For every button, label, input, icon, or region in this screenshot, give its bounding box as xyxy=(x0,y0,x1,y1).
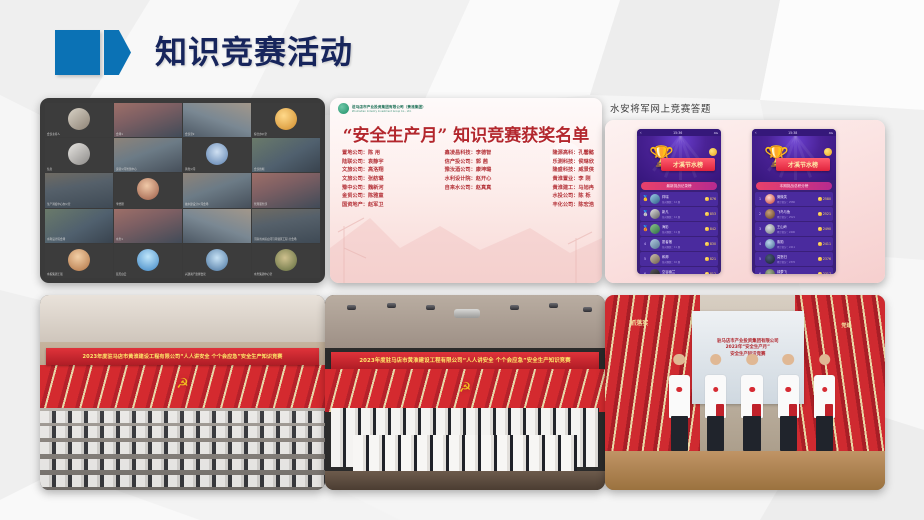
video-tile: 生产调度中心办公室 xyxy=(45,173,113,207)
wall-banner-left: 抓落实 xyxy=(630,318,648,327)
party-emblem-icon: ☭ xyxy=(459,381,472,395)
player-sub: 答对题数：11 题 xyxy=(662,230,703,234)
wall-banner-right: 党建 xyxy=(841,322,851,329)
status-signal: 4G xyxy=(829,131,833,135)
person xyxy=(667,354,692,452)
avatar xyxy=(650,239,660,249)
award-entry: 信产投公司：郭 茜 xyxy=(445,159,492,166)
quiz-banner-title: 才溪节水榜 xyxy=(788,160,818,169)
leaderboard-row[interactable]: 6 空谷幽兰 答对题数：10 题 812 xyxy=(640,267,718,274)
award-entry: 豫中公司：魏新河 xyxy=(342,185,384,192)
quiz-tab-bar[interactable]: 最新挑战记录榜 xyxy=(641,182,717,190)
video-tile: 李经理 xyxy=(114,173,182,207)
rank-number: 4 xyxy=(757,242,763,246)
player-score: 2521 xyxy=(823,212,831,216)
player-score: 2580 xyxy=(823,197,831,201)
stage-floor xyxy=(605,451,885,490)
player-sub: 答对题数：12 题 xyxy=(662,200,703,204)
rank-number: 1 xyxy=(757,197,763,201)
player-name: 新凡 xyxy=(662,209,703,214)
video-tile-label: 会议主持人 xyxy=(47,134,60,137)
online-quiz-screenshots: ‹ 15:36 4G 🏆 才溪节水榜 最新挑战记录榜 xyxy=(605,120,885,283)
stage-front xyxy=(325,471,605,491)
photo-competition-audience: ☭ 2023年度驻马店市黄淮建设工程有限公司“人人讲安全 个个会应急”安全生产知… xyxy=(40,295,325,490)
phone-status-bar: ‹ 15:36 4G xyxy=(637,129,721,136)
video-conference-grid: 会议主持人 会场1 会议室2 综合办公室 信息 运营 xyxy=(45,103,320,278)
score-coin-icon xyxy=(705,272,709,274)
video-conference-screenshot: 会议主持人 会场1 会议室2 综合办公室 信息 运营 xyxy=(40,98,325,283)
status-time: 15:38 xyxy=(788,131,797,135)
avatar xyxy=(765,269,775,274)
video-tile: 运营公司智慧中心 xyxy=(114,138,182,172)
video-tile-label: 融水建设分公司会场 xyxy=(185,204,208,207)
event-banner-text: 2023年度驻马店市黄淮建设工程有限公司“人人讲安全 个个会应急”安全生产知识竞… xyxy=(83,353,283,360)
event-banner-text: 2023年度驻马店市黄淮建设工程有限公司“人人讲安全 个个会应急”安全生产知识竞… xyxy=(359,356,570,364)
chevron-left-icon[interactable]: ‹ xyxy=(640,130,642,135)
slide-title-block: 知识竞赛活动 xyxy=(55,30,353,75)
award-entry: 黄淮建工：马旭冉 xyxy=(552,185,594,192)
rank-number: 5 xyxy=(757,257,763,261)
video-tile-label: 会场1 xyxy=(116,134,123,137)
rank-number: 5 xyxy=(642,257,648,261)
award-entry: 国资地产：赵军卫 xyxy=(342,202,384,209)
player-sub: 累计积分：2376 xyxy=(777,260,816,264)
person xyxy=(812,354,837,452)
score-coin-icon xyxy=(705,197,709,201)
video-tile-label: 水务集团中心室 xyxy=(254,274,272,277)
person xyxy=(739,354,764,452)
player-name: 空谷幽兰 xyxy=(662,269,703,274)
video-tile-label: 河南省水投白河引丹灌区工程-分会场 xyxy=(254,239,296,242)
score-coin-icon xyxy=(818,212,822,216)
avatar xyxy=(650,194,660,204)
player-sub: 累计积分：2521 xyxy=(777,215,816,219)
event-banner: 2023年度驻马店市黄淮建设工程有限公司“人人讲安全 个个会应急”安全生产知识竞… xyxy=(46,348,320,366)
player-score: 2411 xyxy=(823,242,831,246)
player-score: 842 xyxy=(710,227,716,231)
player-score: 812 xyxy=(710,272,716,274)
logo-text-en: Zhumadian Industry Investment Group Co.,… xyxy=(352,110,426,113)
phone-mockup-2: ‹ 15:38 4G 🏆 才溪节水榜 本期挑战总积分榜 xyxy=(752,129,836,274)
photo-content: 2023年度驻马店市黄淮建设工程有限公司“人人讲安全 个个会应急”安全生产知识竞… xyxy=(325,295,605,490)
avatar xyxy=(650,209,660,219)
video-tile-label: 水投集团王强 xyxy=(47,274,63,277)
player-name: 海影 xyxy=(662,224,703,229)
video-tile-label: 综合办公室 xyxy=(254,134,267,137)
avatar xyxy=(650,269,660,274)
flag-backdrop-right xyxy=(795,295,885,463)
award-entry: 丰化公司：陈宏浩 xyxy=(552,202,594,209)
person xyxy=(776,354,801,452)
slide-canvas: 知识竞赛活动 会议主持人 会场1 会议室2 综合办公室 xyxy=(0,0,924,520)
phone-mockup-1: ‹ 15:36 4G 🏆 才溪节水榜 最新挑战记录榜 xyxy=(637,129,721,274)
rank-medal-icon: 🥇 xyxy=(642,196,648,202)
rank-medal-icon: 🥉 xyxy=(642,226,648,232)
rank-number: 3 xyxy=(757,227,763,231)
quiz-tab-bar[interactable]: 本期挑战总积分榜 xyxy=(756,182,832,190)
award-entry: 文旅公司：高洛翔 xyxy=(342,167,384,174)
player-name: 紫陌 xyxy=(777,239,816,244)
coin-icon[interactable] xyxy=(709,148,717,156)
player-sub: 答对题数：12 题 xyxy=(662,215,703,219)
projector xyxy=(454,309,480,318)
leaderboard-list: 1 微微笑 累计积分：2580 2580 2 飞鸟与鱼 累计积分：2521 xyxy=(752,192,836,274)
score-coin-icon xyxy=(818,257,822,261)
leaderboard-row[interactable]: 🥈 新凡 答对题数：12 题 853 xyxy=(640,207,718,221)
rank-number: 4 xyxy=(642,242,648,246)
coin-icon[interactable] xyxy=(824,148,832,156)
audience-seating xyxy=(40,408,325,490)
award-entry: 鑫凌昌科技：李德智 xyxy=(445,150,492,157)
video-tile: 黄淮公司 xyxy=(183,138,251,172)
video-tile-label: 会议室2 xyxy=(185,134,194,137)
video-tile: 信息 xyxy=(45,138,113,172)
person xyxy=(703,354,728,452)
award-column-3: 隆源高科：孔馨懿 乐测科技：侯琳欣 隆盛科技：威景侠 黄淮置业：李 刚 黄淮建工… xyxy=(552,150,594,209)
video-tile: 兴建资产监督会议 xyxy=(183,244,251,278)
score-coin-icon xyxy=(818,242,822,246)
rank-number: 6 xyxy=(642,272,648,274)
award-entry: 陆联公司：袁静宇 xyxy=(342,159,384,166)
avatar xyxy=(650,254,660,264)
quiz-hero-banner: 🏆 才溪节水榜 xyxy=(637,136,721,180)
score-coin-icon xyxy=(705,227,709,231)
award-column-1: 置地公司：陈 用 陆联公司：袁静宇 文旅公司：高洛翔 文旅公司：张舫璐 豫中公司… xyxy=(342,150,384,209)
player-score: 853 xyxy=(710,212,716,216)
video-tile: 会场1 xyxy=(114,103,182,137)
player-score: 2317 xyxy=(823,272,831,274)
photo-award-ceremony: 抓落实 党建 驻马店市产业投资集团有限公司 2023年“安全生产月” 安全生产知… xyxy=(605,295,885,490)
player-sub: 累计积分：2490 xyxy=(777,230,816,234)
quiz-banner-ribbon: 才溪节水榜 xyxy=(776,158,830,171)
player-sub: 累计积分：2580 xyxy=(777,200,816,204)
video-tile: 会议主持人 xyxy=(45,103,113,137)
video-tile-label: 管理服务部 xyxy=(254,204,267,207)
video-tile xyxy=(183,209,251,243)
video-tile: 水务1 xyxy=(114,209,182,243)
video-tile-label: 黄淮公司 xyxy=(185,169,195,172)
avatar xyxy=(765,254,775,264)
award-entry: 豫汝酒公司：康坤璐 xyxy=(445,167,492,174)
avatar xyxy=(765,194,775,204)
photo-group-portrait: 2023年度驻马店市黄淮建设工程有限公司“人人讲安全 个个会应急”安全生产知识竞… xyxy=(325,295,605,490)
video-tile: 水利设计院会场 xyxy=(45,209,113,243)
award-entry: 黄淮置业：李 刚 xyxy=(552,176,594,183)
chevron-left-icon[interactable]: ‹ xyxy=(755,130,757,135)
award-name-columns: 置地公司：陈 用 陆联公司：袁静宇 文旅公司：高洛翔 文旅公司：张舫璐 豫中公司… xyxy=(342,150,594,209)
status-time: 15:36 xyxy=(673,131,682,135)
leaderboard-list: 🥇 祥瑞 答对题数：12 题 876 🥈 新凡 答对题数：12 题 xyxy=(637,192,721,274)
leaderboard-row[interactable]: 6 绿萝飞 累计积分：2317 2317 xyxy=(755,267,833,274)
video-tile-label: 水务1 xyxy=(116,239,123,242)
screen-line-2: 2023年“安全生产月” xyxy=(726,345,770,350)
quiz-tab-label: 最新挑战记录榜 xyxy=(666,184,691,189)
player-sub: 答对题数：10 题 xyxy=(662,260,703,264)
screen-line-1: 驻马店市产业投资集团有限公司 xyxy=(717,339,778,344)
avatar xyxy=(765,209,775,219)
player-name: 祥瑞 xyxy=(662,194,703,199)
event-banner: 2023年度驻马店市黄淮建设工程有限公司“人人讲安全 个个会应急”安全生产知识竞… xyxy=(331,352,600,370)
video-tile: 会议终端 xyxy=(252,138,320,172)
score-coin-icon xyxy=(818,272,822,274)
avatar xyxy=(650,224,660,234)
video-tile: 水投集团王强 xyxy=(45,244,113,278)
video-tile-label: 兴建资产监督会议 xyxy=(185,274,206,277)
video-tile-label: 蓝天白云 xyxy=(116,274,126,277)
photo-content: ☭ 2023年度驻马店市黄淮建设工程有限公司“人人讲安全 个个会应急”安全生产知… xyxy=(40,295,325,490)
rank-number: 2 xyxy=(757,212,763,216)
phone-status-bar: ‹ 15:38 4G xyxy=(752,129,836,136)
score-coin-icon xyxy=(818,197,822,201)
party-emblem-icon: ☭ xyxy=(176,377,189,391)
video-tile: 综合办公室 xyxy=(252,103,320,137)
avatar xyxy=(765,224,775,234)
award-entry: 乐测科技：侯琳欣 xyxy=(552,159,594,166)
rank-number: 6 xyxy=(757,272,763,274)
quiz-tab-label: 本期挑战总积分榜 xyxy=(780,184,809,189)
award-entry: 隆盛科技：威景侠 xyxy=(552,167,594,174)
leaderboard-row[interactable]: 3 王山岭 累计积分：2490 2490 xyxy=(755,222,833,236)
award-entry: 水投公司：陈 栎 xyxy=(552,193,594,200)
score-coin-icon xyxy=(705,212,709,216)
leaderboard-row[interactable]: 🥇 祥瑞 答对题数：12 题 876 xyxy=(640,192,718,206)
logo-mark-icon xyxy=(338,103,349,114)
video-tile: 管理服务部 xyxy=(252,173,320,207)
video-tile-label: 信息 xyxy=(47,169,52,172)
leaderboard-row[interactable]: 5 和卿 答对题数：10 题 821 xyxy=(640,252,718,266)
leaderboard-row[interactable]: 4 愿者猪 答对题数：11 题 830 xyxy=(640,237,718,251)
player-name: 王山岭 xyxy=(777,224,816,229)
video-tile-label: 运营公司智慧中心 xyxy=(116,169,137,172)
avatar xyxy=(765,239,775,249)
player-name: 飞鸟与鱼 xyxy=(777,209,816,214)
score-coin-icon xyxy=(818,227,822,231)
player-name: 愿者猪 xyxy=(662,239,703,244)
award-entry: 金贸公司：陈雅童 xyxy=(342,193,384,200)
award-column-2: 鑫凌昌科技：李德智 信产投公司：郭 茜 豫汝酒公司：康坤璐 水利设计院：赵开心 … xyxy=(445,150,492,209)
quiz-hero-banner: 🏆 才溪节水榜 xyxy=(752,136,836,180)
video-tile: 蓝天白云 xyxy=(114,244,182,278)
leaderboard-row[interactable]: 4 紫陌 累计积分：2411 2411 xyxy=(755,237,833,251)
player-sub: 答对题数：11 题 xyxy=(662,245,703,249)
status-signal: 4G xyxy=(714,131,718,135)
player-score: 876 xyxy=(710,197,716,201)
title-arrow-icon xyxy=(104,30,131,75)
award-entry: 置地公司：陈 用 xyxy=(342,150,384,157)
player-name: 微微笑 xyxy=(777,194,816,199)
photo-content: 抓落实 党建 驻马店市产业投资集团有限公司 2023年“安全生产月” 安全生产知… xyxy=(605,295,885,490)
player-score: 2490 xyxy=(823,227,831,231)
online-quiz-caption: 水安将军网上竞赛答题 xyxy=(610,101,711,115)
player-name: 和卿 xyxy=(662,254,703,259)
video-tile-label: 水利设计院会场 xyxy=(47,239,65,242)
video-tile-label: 生产调度中心办公室 xyxy=(47,204,70,207)
award-list-poster: 驻马店市产业投资集团有限公司（黄淮集团） Zhumadian Industry … xyxy=(330,98,602,283)
leaderboard-row[interactable]: 5 莫愁归 累计积分：2376 2376 xyxy=(755,252,833,266)
video-tile: 融水建设分公司会场 xyxy=(183,173,251,207)
award-entry: 自来水公司：赵真真 xyxy=(445,185,492,192)
quiz-banner-ribbon: 才溪节水榜 xyxy=(661,158,715,171)
player-name: 绿萝飞 xyxy=(777,269,816,274)
page-title: 知识竞赛活动 xyxy=(155,30,353,75)
score-coin-icon xyxy=(705,257,709,261)
leaderboard-row[interactable]: 1 微微笑 累计积分：2580 2580 xyxy=(755,192,833,206)
award-entry: 文旅公司：张舫璐 xyxy=(342,176,384,183)
leaderboard-row[interactable]: 🥉 海影 答对题数：11 题 842 xyxy=(640,222,718,236)
title-accent-bar xyxy=(55,30,100,75)
award-entry: 水利设计院：赵开心 xyxy=(445,176,492,183)
leaderboard-row[interactable]: 2 飞鸟与鱼 累计积分：2521 2521 xyxy=(755,207,833,221)
video-tile: 会议室2 xyxy=(183,103,251,137)
player-score: 2376 xyxy=(823,257,831,261)
video-tile: 河南省水投白河引丹灌区工程-分会场 xyxy=(252,209,320,243)
score-coin-icon xyxy=(705,242,709,246)
rank-medal-icon: 🥈 xyxy=(642,211,648,217)
video-tile-label: 会议终端 xyxy=(254,169,264,172)
organization-logo: 驻马店市产业投资集团有限公司（黄淮集团） Zhumadian Industry … xyxy=(338,103,426,114)
award-poster-title: “安全生产月” 知识竞赛获奖名单 xyxy=(330,121,602,146)
player-name: 莫愁归 xyxy=(777,254,816,259)
player-score: 830 xyxy=(710,242,716,246)
quiz-banner-title: 才溪节水榜 xyxy=(673,160,703,169)
video-tile-label: 李经理 xyxy=(116,204,124,207)
award-entry: 隆源高科：孔馨懿 xyxy=(552,150,594,157)
player-sub: 累计积分：2411 xyxy=(777,245,816,249)
video-tile: 水务集团中心室 xyxy=(252,244,320,278)
player-score: 821 xyxy=(710,257,716,261)
